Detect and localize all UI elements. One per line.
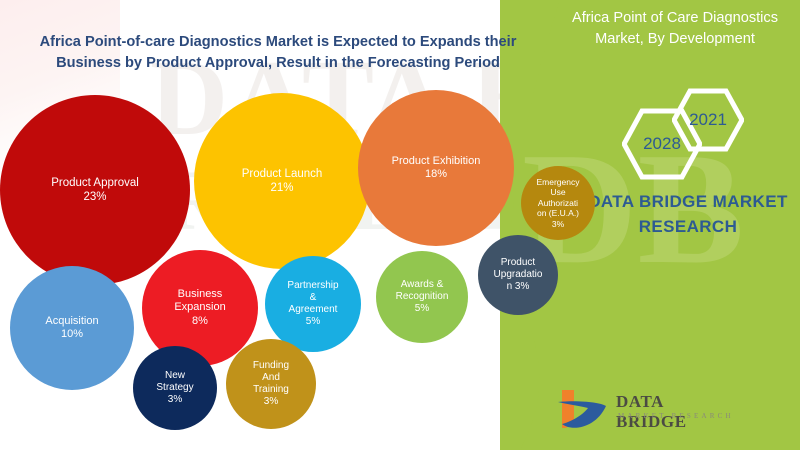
bubble-awards-recognition[interactable]: Awards & Recognition 5%	[376, 251, 468, 343]
hexagon-2021: 2021	[672, 88, 744, 152]
bubble-label: Funding And Training 3%	[247, 360, 295, 409]
bubble-label: Product Launch 21%	[236, 167, 329, 195]
brand-name: DATA BRIDGE MARKET RESEARCH	[588, 190, 788, 239]
bubble-label: Product Exhibition 18%	[386, 155, 487, 182]
logo-tagline: MARKET RESEARCH	[618, 412, 734, 420]
bubble-new-strategy[interactable]: New Strategy 3%	[133, 346, 217, 430]
bubble-label: New Strategy 3%	[150, 370, 199, 407]
hexagon-2021-label: 2021	[689, 110, 727, 130]
bubble-product-upgradation[interactable]: Product Upgradatio n 3%	[478, 235, 558, 315]
bubble-partnership-agreement[interactable]: Partnership & Agreement 5%	[265, 256, 361, 352]
bubble-label: Product Upgradatio n 3%	[488, 257, 549, 294]
bubble-label: Acquisition 10%	[39, 315, 104, 342]
bubble-funding-and-training[interactable]: Funding And Training 3%	[226, 339, 316, 429]
bubble-product-launch[interactable]: Product Launch 21%	[194, 93, 370, 269]
bubble-label: Partnership & Agreement 5%	[281, 280, 344, 329]
bubble-label: Emergency Use Authorizati on (E.U.A.) 3%	[531, 177, 586, 229]
bubble-label: Product Approval 23%	[45, 176, 145, 204]
bubble-product-approval[interactable]: Product Approval 23%	[0, 95, 190, 285]
bubble-label: Business Expansion 8%	[168, 288, 231, 328]
panel-title: Africa Point of Care Diagnostics Market,…	[556, 8, 794, 50]
company-logo: DATA BRIDGE MARKET RESEARCH	[556, 388, 736, 438]
infographic-canvas: DATA BRIDGE RESEARCH DB DB Africa Point …	[0, 0, 800, 450]
bubble-label: Awards & Recognition 5%	[390, 279, 455, 316]
page-title: Africa Point-of-care Diagnostics Market …	[38, 32, 518, 74]
bubble-product-exhibition[interactable]: Product Exhibition 18%	[358, 90, 514, 246]
bubble-emergency-use-authorization-e-u-a[interactable]: Emergency Use Authorizati on (E.U.A.) 3%	[521, 166, 595, 240]
logo-mark-icon	[556, 388, 612, 434]
bubble-acquisition[interactable]: Acquisition 10%	[10, 266, 134, 390]
